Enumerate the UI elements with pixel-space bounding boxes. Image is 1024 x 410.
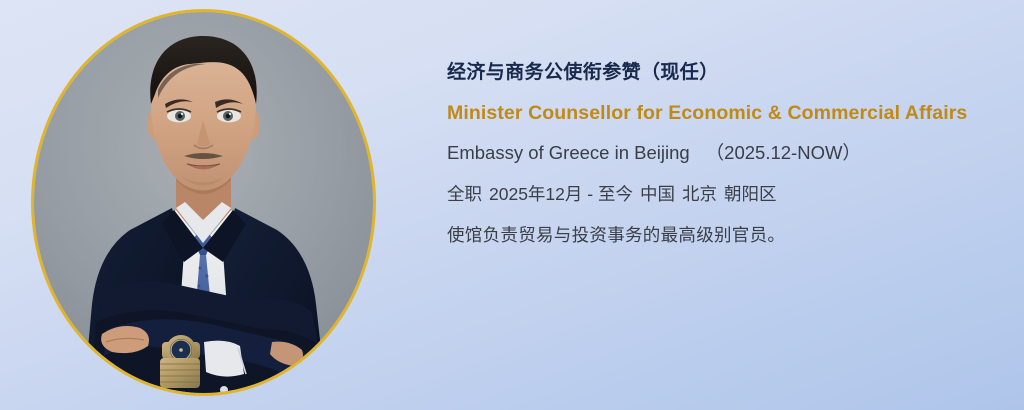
date-range: 2025年12月 - 至今	[489, 184, 633, 204]
employment-meta-line: 全职2025年12月 - 至今中国北京朝阳区	[447, 180, 1007, 208]
profile-details: 经济与商务公使衔参赞（现任） Minister Counsellor for E…	[447, 58, 1007, 249]
location-country: 中国	[640, 184, 675, 204]
location-city: 北京	[682, 184, 717, 204]
avatar	[31, 9, 376, 396]
profile-card: 经济与商务公使衔参赞（现任） Minister Counsellor for E…	[0, 0, 1024, 410]
role-title-english: Minister Counsellor for Economic & Comme…	[447, 99, 1007, 127]
organization-line: Embassy of Greece in Beijing（2025.12-NOW…	[447, 139, 1007, 167]
role-title-chinese: 经济与商务公使衔参赞（现任）	[447, 58, 1007, 88]
employment-type: 全职	[447, 184, 482, 204]
location-district: 朝阳区	[724, 184, 777, 204]
portrait-photo	[34, 12, 373, 393]
employment-period: （2025.12-NOW）	[706, 142, 861, 163]
organization-name: Embassy of Greece in Beijing	[447, 142, 690, 163]
role-description: 使馆负责贸易与投资事务的最高级别官员。	[447, 221, 1007, 249]
